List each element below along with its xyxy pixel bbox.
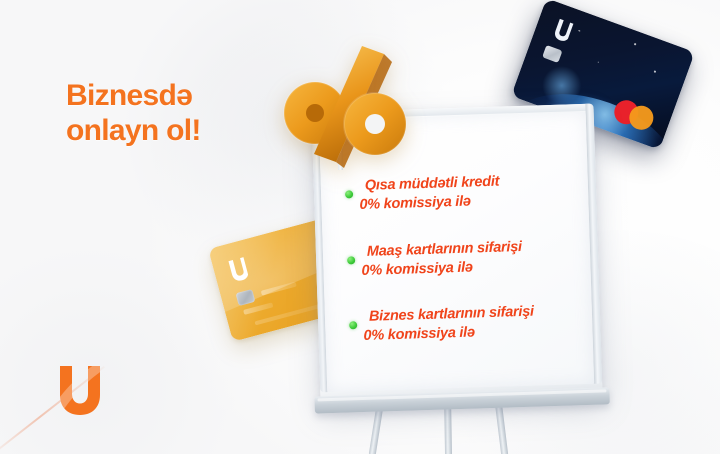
- benefit-list: Qısa müddətli kredit 0% komissiya ilə Ma…: [343, 170, 583, 346]
- promo-banner: Biznesdə onlayn ol!: [0, 0, 720, 454]
- u-logo-icon: [54, 362, 106, 418]
- list-item: Qısa müddətli kredit 0% komissiya ilə: [343, 170, 579, 215]
- blue-card-u-logo-icon: [551, 17, 574, 43]
- gold-card-chip-icon: [236, 289, 256, 306]
- background-blob: [0, 250, 240, 454]
- blue-card-chip-icon: [542, 45, 562, 63]
- bullet-dot-icon: [347, 256, 355, 264]
- percent-symbol-icon: [274, 40, 410, 170]
- list-item: Maaş kartlarının sifarişi 0% komissiya i…: [345, 236, 581, 281]
- bullet-dot-icon: [349, 322, 357, 330]
- whiteboard-tray: [314, 387, 609, 413]
- list-item: Biznes kartlarının sifarişi 0% komissiya…: [347, 301, 583, 346]
- headline: Biznesdə onlayn ol!: [66, 78, 201, 148]
- card-emboss: [243, 302, 273, 315]
- bullet-dot-icon: [345, 190, 353, 198]
